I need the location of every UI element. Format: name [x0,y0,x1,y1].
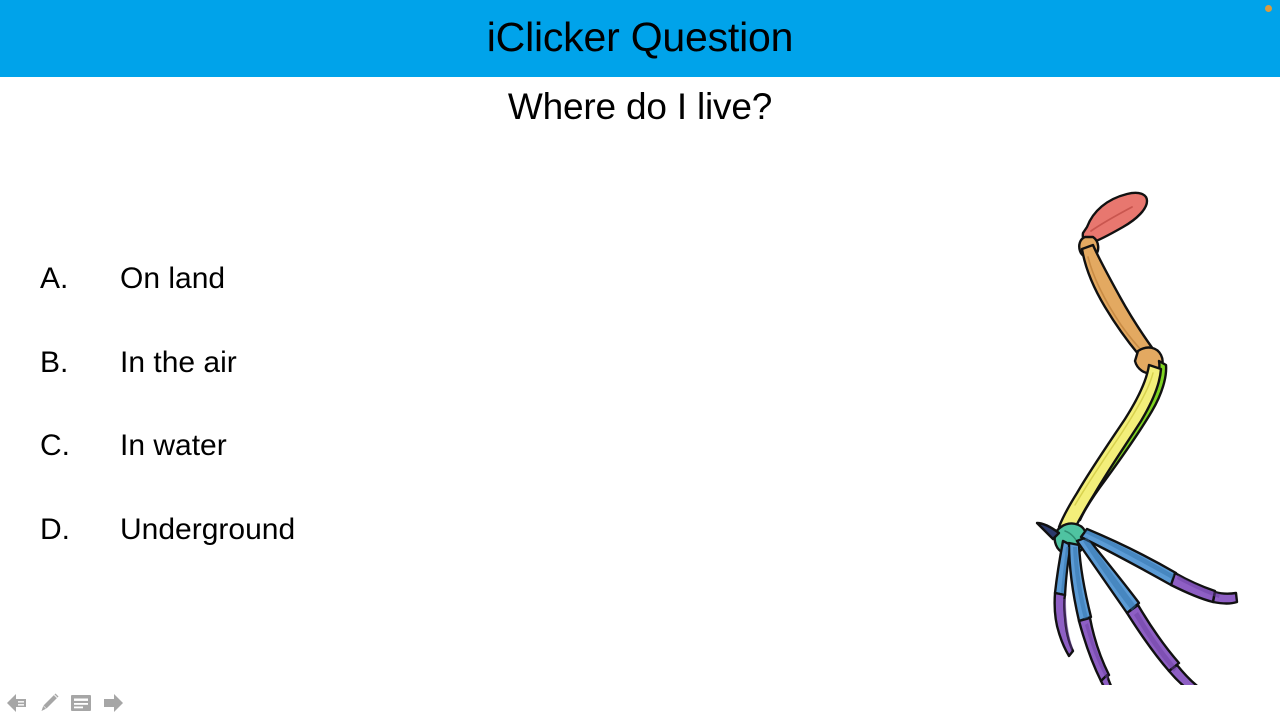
previous-slide-button[interactable] [4,690,30,716]
arrow-right-icon [101,692,125,714]
status-dot [1265,5,1272,12]
answer-choice-letter: B. [40,346,120,380]
arrow-left-icon [5,692,29,714]
pen-tool-button[interactable] [36,690,62,716]
answer-choice-label: Underground [120,513,295,547]
slide-title: iClicker Question [0,0,1280,77]
answer-choice-letter: A. [40,262,120,296]
answer-choice-d[interactable]: D. Underground [40,513,640,597]
answer-choice-letter: D. [40,513,120,547]
answer-choice-letter: C. [40,429,120,463]
slideshow-toolbar [4,690,126,716]
presentation-slide: iClicker Question Where do I live? A. On… [0,0,1280,720]
answer-choice-a[interactable]: A. On land [40,262,640,346]
answer-choice-label: On land [120,262,225,296]
next-slide-button[interactable] [100,690,126,716]
answer-choice-b[interactable]: B. In the air [40,346,640,430]
question-prompt: Where do I live? [0,86,1280,128]
slide-title-banner: iClicker Question [0,0,1280,77]
humerus-bone [1082,245,1153,355]
pen-icon [37,691,61,715]
digit3-phalanx-2 [1101,675,1121,685]
slide-menu-button[interactable] [68,690,94,716]
answer-choice-label: In the air [120,346,237,380]
answer-choice-label: In water [120,429,227,463]
bat-wing-skeleton-diagram [1035,175,1280,685]
answer-choice-c[interactable]: C. In water [40,429,640,513]
slide-notes-icon [69,693,93,713]
answer-choice-list: A. On land B. In the air C. In water D. … [40,262,640,596]
thumb-claw [1037,523,1059,539]
